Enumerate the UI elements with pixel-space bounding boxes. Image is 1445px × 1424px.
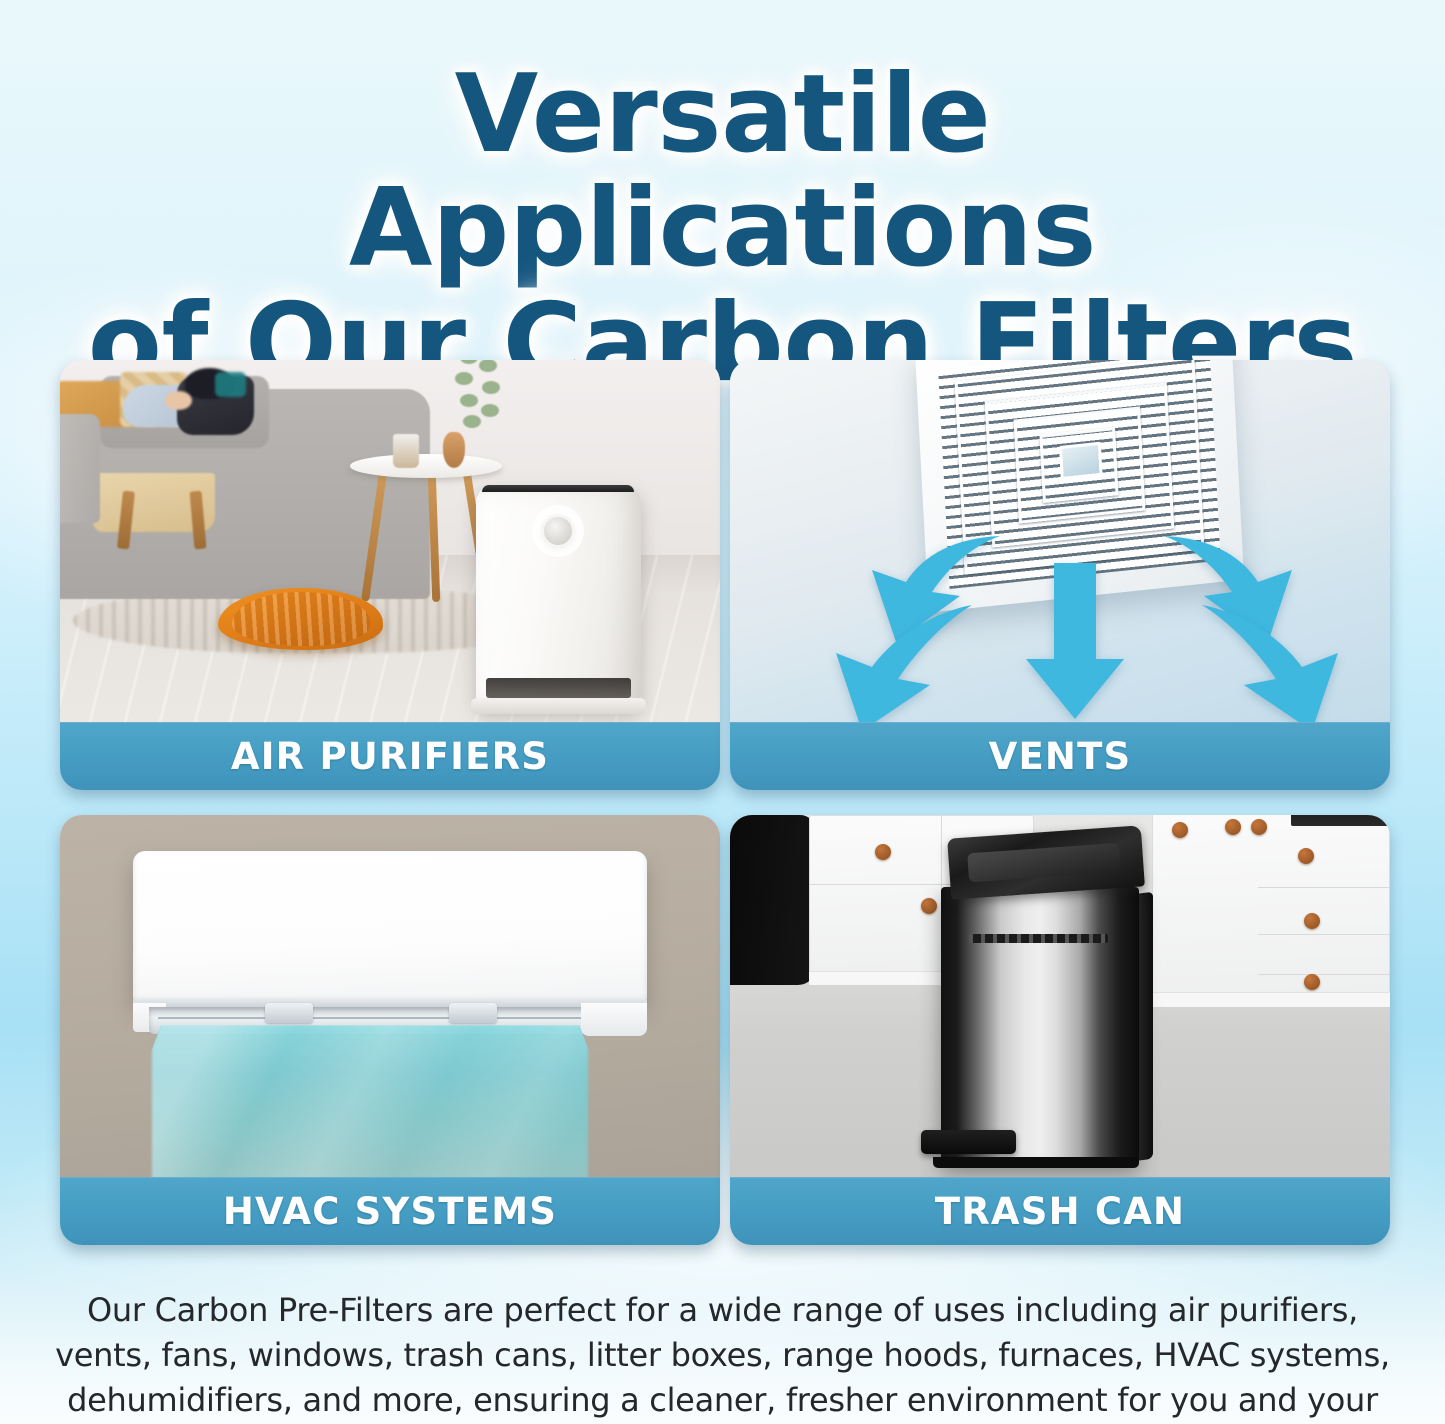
infographic-page: Versatile Applications of Our Carbon Fil… bbox=[0, 0, 1445, 1424]
drawer-knob bbox=[1225, 819, 1241, 835]
plant-leaf bbox=[463, 415, 481, 428]
kitchen-cabinet-right bbox=[1152, 815, 1390, 996]
hvac-photo bbox=[60, 815, 720, 1177]
air-purifier-photo bbox=[60, 360, 720, 722]
drawer-knob bbox=[1251, 819, 1267, 835]
step-trash-can bbox=[941, 887, 1139, 1162]
cool-airflow-stream bbox=[152, 1025, 588, 1177]
card-vents[interactable]: VENTS bbox=[730, 360, 1390, 790]
air-conditioner-unit bbox=[133, 851, 648, 1003]
airflow-arrow-lower-right-icon bbox=[1192, 595, 1352, 722]
countertop-edge bbox=[1291, 815, 1390, 826]
drawer-seam bbox=[1258, 934, 1390, 935]
airflow-arrow-lower-left-icon bbox=[822, 595, 982, 722]
plant-leaf bbox=[479, 360, 497, 372]
potted-plant bbox=[436, 360, 515, 443]
trash-can-base bbox=[933, 1157, 1139, 1168]
plant-leaf bbox=[460, 360, 478, 364]
card-hvac-systems[interactable]: HVAC SYSTEMS bbox=[60, 815, 720, 1245]
card-label-bar-vents: VENTS bbox=[730, 722, 1390, 790]
application-card-grid: AIR PURIFIERS bbox=[60, 360, 1390, 1245]
coffee-cup bbox=[393, 434, 419, 468]
trash-can-photo bbox=[730, 815, 1390, 1177]
cabinet-toe-kick bbox=[1152, 992, 1390, 1006]
card-label-text: VENTS bbox=[989, 735, 1132, 778]
drawer-knob bbox=[1304, 913, 1320, 929]
title-heading: Versatile Applications of Our Carbon Fil… bbox=[70, 58, 1375, 401]
trash-can-hinge bbox=[969, 934, 1108, 943]
page-title: Versatile Applications of Our Carbon Fil… bbox=[0, 0, 1445, 401]
drawer-seam bbox=[1258, 887, 1390, 888]
card-label-bar-air-purifiers: AIR PURIFIERS bbox=[60, 722, 720, 790]
sofa-arm bbox=[60, 414, 100, 523]
card-trash-can[interactable]: TRASH CAN bbox=[730, 815, 1390, 1245]
ac-louver-tab bbox=[265, 1003, 313, 1023]
footer-description: Our Carbon Pre-Filters are perfect for a… bbox=[40, 1288, 1405, 1424]
ceiling-vent-scene bbox=[730, 360, 1390, 722]
plant-leaf bbox=[481, 404, 499, 417]
card-label-bar-hvac-systems: HVAC SYSTEMS bbox=[60, 1177, 720, 1245]
card-label-bar-trash-can: TRASH CAN bbox=[730, 1177, 1390, 1245]
kitchen-scene bbox=[730, 815, 1390, 1177]
teal-accent bbox=[215, 372, 246, 397]
vent-photo bbox=[730, 360, 1390, 722]
card-label-text: TRASH CAN bbox=[935, 1190, 1185, 1233]
mini-split-scene bbox=[60, 815, 720, 1177]
ac-right-cap bbox=[581, 1003, 647, 1036]
drawer-knob bbox=[1298, 848, 1314, 864]
side-table-top bbox=[350, 454, 502, 478]
person-hand bbox=[165, 391, 192, 410]
black-refrigerator bbox=[730, 815, 816, 985]
ac-louver-tab bbox=[449, 1003, 497, 1023]
plant-leaf bbox=[460, 394, 478, 407]
title-line-1: Versatile Applications bbox=[349, 52, 1096, 291]
air-purifier-device bbox=[476, 485, 641, 709]
plant-leaf bbox=[482, 381, 500, 394]
power-button-icon bbox=[541, 514, 575, 548]
living-room-scene bbox=[60, 360, 720, 722]
footer-paragraph: Our Carbon Pre-Filters are perfect for a… bbox=[40, 1288, 1405, 1424]
card-air-purifiers[interactable]: AIR PURIFIERS bbox=[60, 360, 720, 790]
orange-knit-pillow bbox=[218, 588, 383, 650]
purifier-base bbox=[471, 698, 646, 714]
vent-center-plate bbox=[1060, 442, 1103, 480]
card-label-text: AIR PURIFIERS bbox=[231, 735, 549, 778]
vase bbox=[443, 432, 465, 468]
plant-leaf bbox=[455, 372, 473, 385]
trash-can-foot-pedal bbox=[921, 1130, 1016, 1155]
card-label-text: HVAC SYSTEMS bbox=[223, 1190, 557, 1233]
sofa bbox=[60, 389, 430, 599]
trash-can-body bbox=[941, 887, 1139, 1162]
drawer-seam bbox=[1258, 974, 1390, 975]
airflow-arrow-center-down-icon bbox=[1020, 563, 1130, 722]
